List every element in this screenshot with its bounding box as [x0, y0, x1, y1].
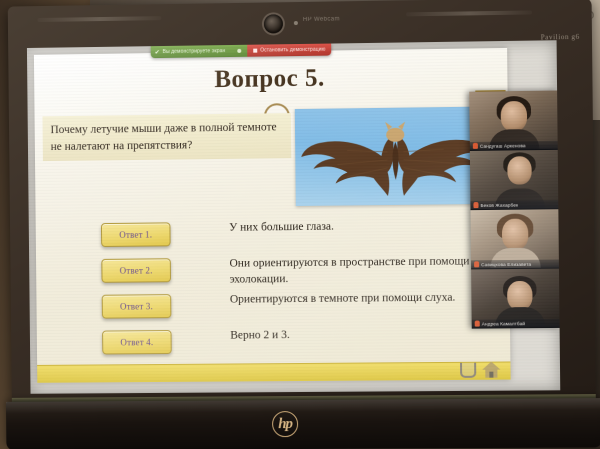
home-icon[interactable] [482, 362, 500, 378]
answer-button-2[interactable]: Ответ 2. [101, 258, 171, 283]
hp-logo: hp [272, 411, 298, 437]
laptop-base: hp [6, 398, 600, 449]
participant-name: Савицкова Елизавета [481, 261, 531, 267]
answer-text-2: Они ориентируются в пространстве при пом… [229, 253, 495, 288]
stop-share-button[interactable]: Остановить демонстрацию [247, 44, 331, 57]
participant-name-bar: Андреа Камалтбай [472, 319, 560, 328]
participant-tile[interactable]: Андреа Камалтбай [471, 269, 559, 329]
sharing-status-chip: ✔ Вы демонстрируете экран [151, 45, 232, 58]
pause-share-button[interactable] [231, 45, 247, 57]
answer-text-3: Ориентируются в темноте при помощи слуха… [230, 289, 496, 307]
bat-photo [295, 106, 497, 206]
answer-row: Ответ 2. Они ориентируются в пространств… [46, 253, 501, 293]
answer-row: Ответ 4. Верно 2 и 3. [47, 325, 502, 364]
webcam-label: HP Webcam [303, 16, 340, 23]
answer-text-1: У них большие глаза. [229, 217, 495, 236]
answer-row: Ответ 3. Ориентируются в темноте при пом… [46, 289, 501, 329]
checkmark-icon: ✔ [155, 49, 160, 56]
participant-name: Беков Жахарбек [480, 202, 518, 207]
answer-text-4: Верно 2 и 3. [230, 325, 496, 343]
base-sheen [6, 398, 600, 414]
answer-row: Ответ 1. У них большие глаза. [46, 217, 501, 258]
webcam-led-icon [294, 21, 298, 25]
laptop-screen: Вопрос 5. 50 Почему летучие мыши даже в … [27, 40, 560, 394]
slide-title: Вопрос 5. [34, 62, 508, 97]
answer-button-4[interactable]: Ответ 4. [102, 330, 172, 354]
mic-muted-icon [475, 321, 480, 327]
answers-list: Ответ 1. У них большие глаза. Ответ 2. О… [46, 217, 502, 365]
participant-name: Андреа Камалтбай [482, 321, 525, 326]
speaker-grille-right [406, 10, 532, 16]
pause-dot-icon [237, 49, 241, 53]
participant-tile[interactable]: Савицкова Елизавета [470, 209, 558, 269]
mic-muted-icon [474, 261, 479, 267]
photo-of-laptop-screen: ib HP Webcam Pavilion g6 Вопрос 5. 50 По… [0, 0, 600, 449]
participant-name-bar: Сандугаш Аркенова [470, 141, 558, 150]
zoom-participant-strip: Сандугаш Аркенова Беков Жахарбек Савицко… [469, 91, 559, 329]
question-text: Почему летучие мыши даже в полной темнот… [42, 113, 291, 161]
participant-tile[interactable]: Беков Жахарбек [470, 150, 558, 210]
speaker-grille-left [37, 16, 161, 22]
stop-share-label: Остановить демонстрацию [260, 47, 325, 54]
answer-button-3[interactable]: Ответ 3. [102, 294, 172, 319]
powerpoint-slide: Вопрос 5. 50 Почему летучие мыши даже в … [34, 48, 511, 383]
participant-tile[interactable]: Сандугаш Аркенова [469, 91, 557, 151]
participant-name-bar: Беков Жахарбек [470, 200, 558, 209]
answer-button-1[interactable]: Ответ 1. [101, 222, 171, 247]
slide-nav-icons [460, 362, 500, 378]
screen-bezel-top: HP Webcam [8, 0, 592, 44]
participant-name-bar: Савицкова Елизавета [471, 260, 559, 269]
slide-footer-bar [37, 361, 510, 382]
mic-muted-icon [473, 143, 478, 149]
laptop: HP Webcam Pavilion g6 Вопрос 5. 50 Почем… [2, 0, 600, 449]
sharing-status-label: Вы демонстрируете экран [163, 48, 226, 55]
mic-muted-icon [473, 202, 478, 208]
stop-square-icon [253, 49, 257, 53]
back-arrow-icon[interactable] [460, 363, 476, 378]
webcam-lens-icon [264, 14, 283, 33]
participant-name: Сандугаш Аркенова [480, 143, 526, 149]
